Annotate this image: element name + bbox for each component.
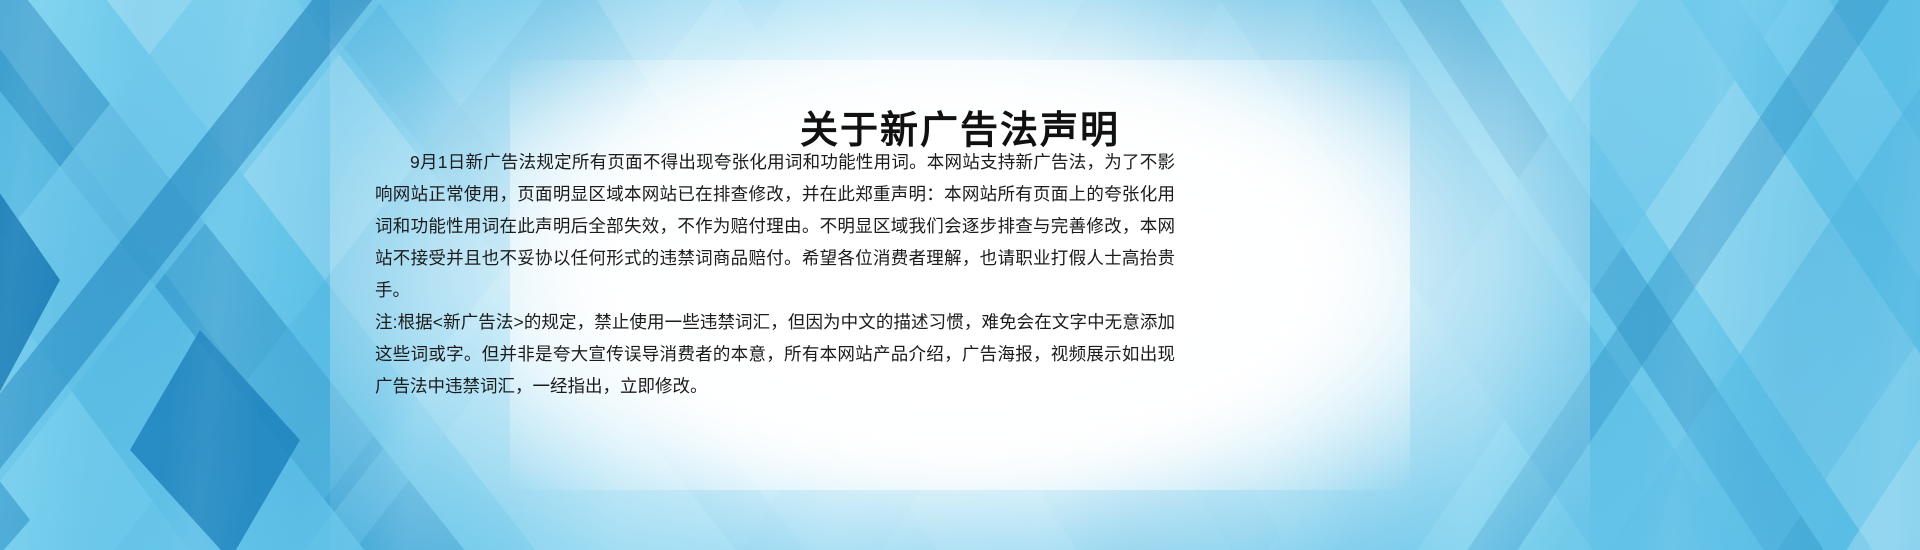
statement-paragraph-2: 注:根据<新广告法>的规定，禁止使用一些违禁词汇，但因为中文的描述习惯，难免会在… — [375, 306, 1175, 402]
statement-paragraph-1: 9月1日新广告法规定所有页面不得出现夸张化用词和功能性用词。本网站支持新广告法，… — [375, 146, 1175, 306]
advertising-law-statement-banner: 关于新广告法声明 9月1日新广告法规定所有页面不得出现夸张化用词和功能性用词。本… — [0, 0, 1920, 550]
statement-body: 9月1日新广告法规定所有页面不得出现夸张化用词和功能性用词。本网站支持新广告法，… — [375, 146, 1175, 402]
banner-content: 关于新广告法声明 9月1日新广告法规定所有页面不得出现夸张化用词和功能性用词。本… — [0, 0, 1920, 550]
